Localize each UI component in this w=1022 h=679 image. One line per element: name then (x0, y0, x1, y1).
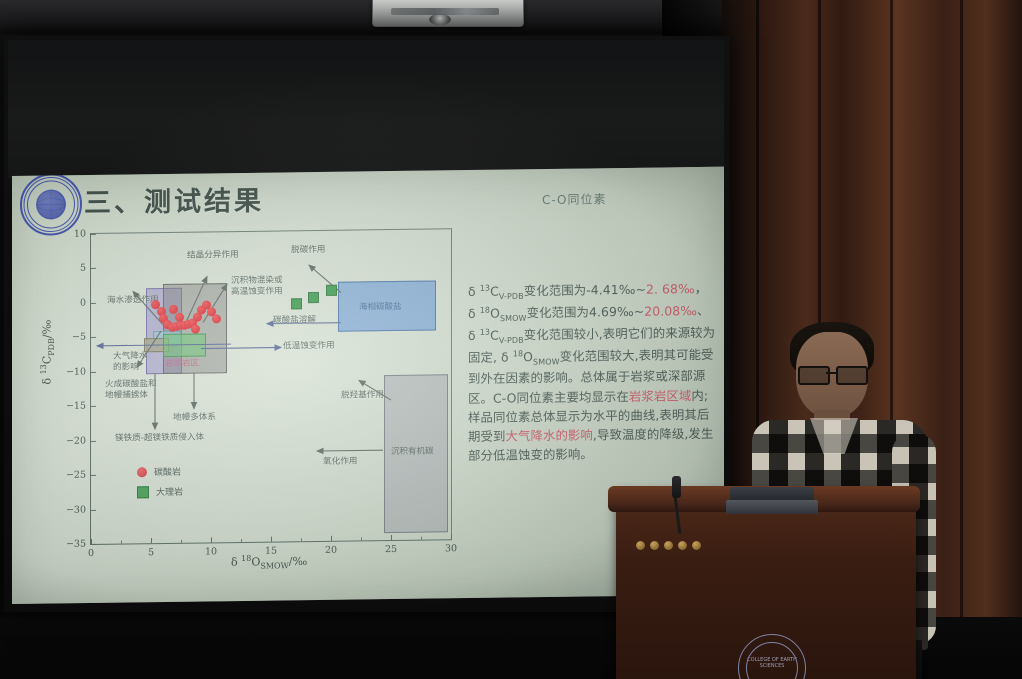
x-tick-label: 0 (88, 548, 94, 559)
y-tick-label: 0 (80, 297, 86, 308)
podium-button (664, 541, 673, 550)
x-tick-label: 20 (325, 545, 337, 556)
podium-button (678, 541, 687, 550)
data-point-marble (326, 285, 337, 296)
annotation-mafic-ultramafic-intrusion: 镁铁质-超镁铁质侵入体 (115, 432, 204, 444)
legend-label: 大理岩 (156, 485, 183, 498)
data-point-marble (308, 292, 319, 303)
slide-subtitle: C-O同位素 (542, 190, 607, 208)
microphone-icon[interactable] (672, 476, 681, 498)
annotation-oxidation: 氧化作用 (323, 456, 357, 467)
legend-label: 碳酸岩 (154, 465, 181, 478)
data-point-carbonatite (169, 305, 178, 314)
annotation-low-temp-alteration: 低温蚀变作用 (283, 341, 335, 352)
legend-square-icon (137, 486, 149, 498)
slide-title: 三、测试结果 (84, 179, 264, 220)
y-tick-label: −10 (66, 366, 86, 377)
text-line-o-range: δ 18OSMOW变化范围为4.69‰~20.08‰、 (468, 301, 718, 326)
annotation-igneous-carbonate-mantle-xenolith: 火成碳酸盐和地幔捕掳体 (105, 379, 157, 401)
ceiling-projector-icon (372, 0, 524, 27)
y-tick-label: 10 (74, 229, 86, 240)
y-tick-label: −25 (66, 470, 86, 481)
x-tick-label: 5 (148, 547, 154, 558)
x-tick-label: 25 (385, 544, 397, 555)
laptop[interactable] (726, 500, 818, 514)
lecture-room-photo: 三、测试结果 C-O同位素 海相碳酸盐 沉积有机碳 岩浆岩区 (0, 0, 1022, 679)
podium-button (636, 541, 645, 550)
text-paragraph: δ 13CV-PDB变化范围较小,表明它们的来源较为固定, δ 18OSMOW变… (468, 322, 718, 465)
annotation-decarbonation: 脱碳作用 (291, 245, 325, 256)
annotation-mantle-multisystem: 地幔多体系 (173, 412, 216, 423)
y-tick-label: −35 (66, 539, 86, 550)
legend-item-carbonatite: 碳酸岩 (137, 465, 183, 479)
y-tick-label: −5 (72, 332, 86, 343)
seal-ring-icon (22, 175, 80, 234)
x-axis-label: δ 18OSMOW/‰ (231, 553, 307, 571)
podium-button (650, 541, 659, 550)
podium-emblem-text: COLLEGE OF EARTH SCIENCES (739, 657, 805, 669)
annotation-dehydroxylation: 脱羟基作用 (341, 390, 384, 401)
co-isotope-scatter-chart: 海相碳酸盐 沉积有机碳 岩浆岩区 (90, 228, 452, 545)
annotation-meteoric-water: 大气降水的影响 (113, 351, 147, 373)
data-point-carbonatite (175, 313, 184, 322)
data-point-marble (291, 298, 302, 309)
annotation-crystal-differentiation: 结晶分异作用 (187, 250, 239, 261)
chart-legend: 碳酸岩 大理岩 (137, 465, 183, 506)
annotation-carbonate-dissolution: 碳酸盐溶解 (273, 315, 316, 326)
text-line-c-range: δ 13CV-PDB变化范围为-4.41‰~2. 68‰， (468, 279, 718, 304)
legend-item-marble: 大理岩 (137, 485, 183, 499)
slide-text-block: δ 13CV-PDB变化范围为-4.41‰~2. 68‰， δ 18OSMOW变… (468, 279, 718, 466)
podium-control-buttons[interactable] (636, 541, 701, 550)
x-tick-label: 30 (445, 543, 457, 554)
projector-lens-icon (429, 14, 451, 25)
screen-upper-dark-area (8, 40, 724, 178)
y-tick-label: −30 (66, 504, 86, 515)
x-tick-label: 10 (205, 546, 217, 557)
podium-button (692, 541, 701, 550)
y-tick-label: −20 (66, 435, 86, 446)
y-tick-label: −15 (66, 401, 86, 412)
y-tick-label: 5 (80, 263, 86, 274)
legend-circle-icon (137, 467, 147, 477)
glasses-icon (798, 366, 868, 381)
chart-plot-area: 海相碳酸盐 沉积有机碳 岩浆岩区 (91, 229, 451, 544)
data-point-carbonatite (212, 314, 221, 323)
y-axis-label: δ 13CPDB/‰ (39, 320, 56, 385)
data-point-carbonatite (191, 325, 200, 334)
annotation-sediment-contamination: 沉积物混染或高温蚀变作用 (231, 275, 283, 297)
university-seal-icon (20, 173, 82, 236)
